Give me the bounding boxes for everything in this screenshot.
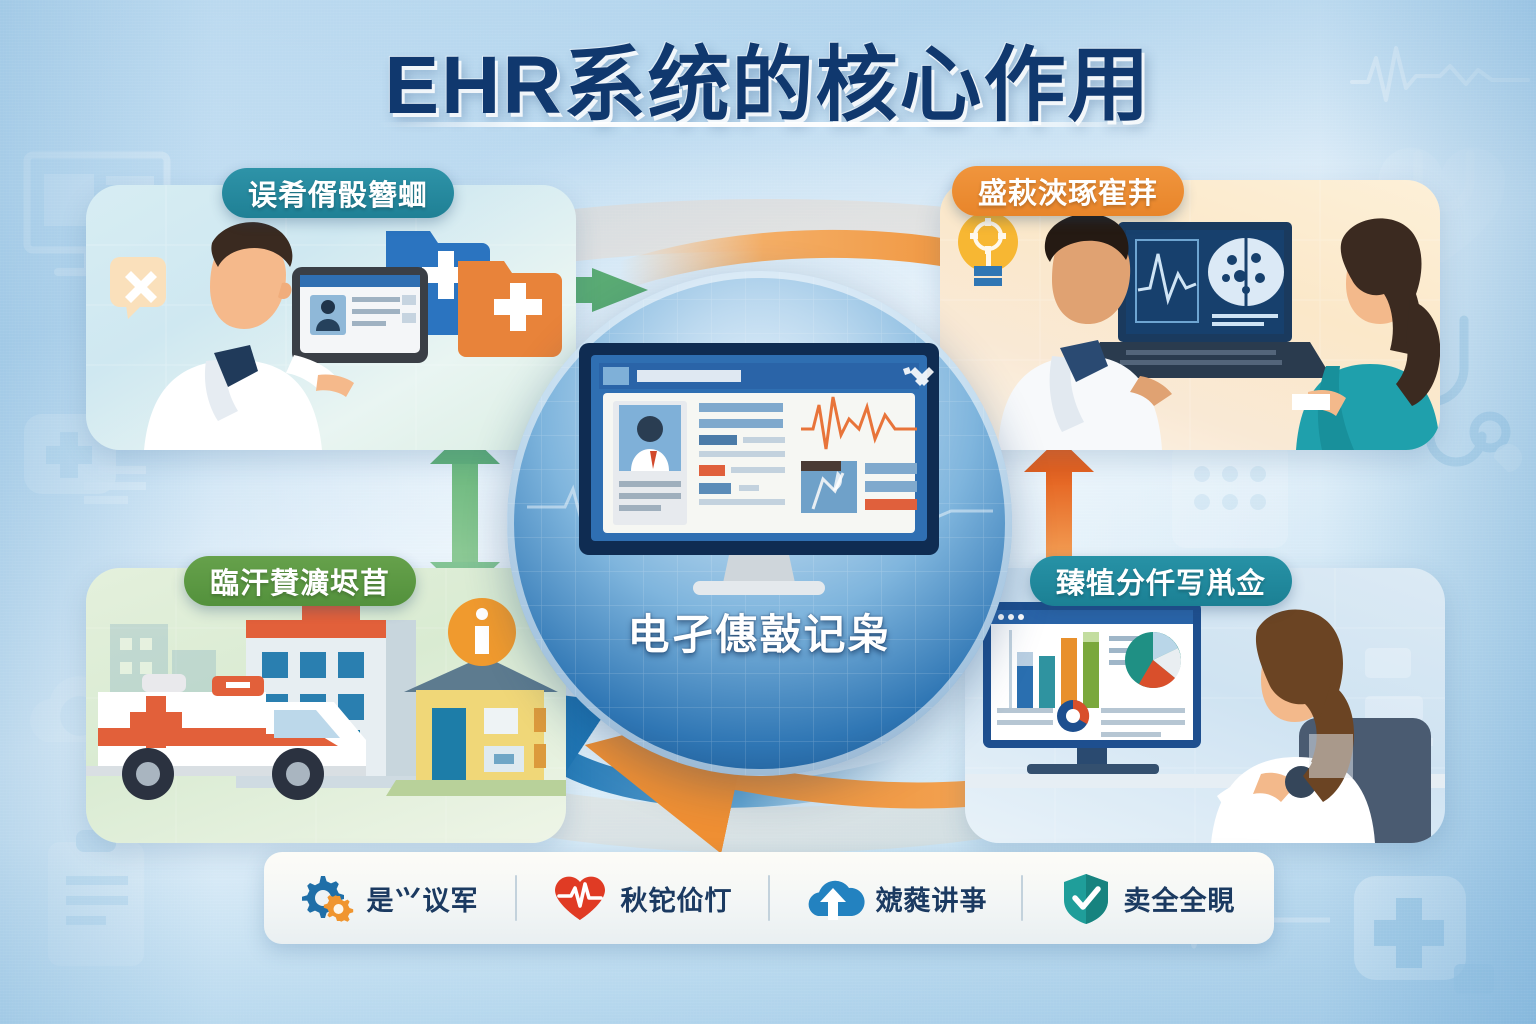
quadrant-label-bottom-left[interactable]: 臨汗賛瀇𡋤苜 [184, 556, 416, 606]
clinicians-laptop-diagnostics-illustration [940, 180, 1440, 450]
brain-scan-display [1208, 238, 1284, 306]
quadrant-card-bottom-left[interactable] [86, 568, 566, 843]
chat-bubble-cross-icon [110, 257, 166, 319]
nurse-figure-right [1292, 218, 1440, 450]
footer-feature-bar: 是⺍议军 秋铊佡忊 虠蕤讲亊 卖全全睍 [264, 852, 1274, 944]
hub-label: 电孑僡敼记枭 [507, 601, 1012, 662]
footer-item-cloud-upload[interactable]: 虠蕤讲亊 [770, 852, 1021, 944]
pie-chart-icon [1125, 632, 1181, 688]
doctor-tablet-records-illustration [86, 185, 576, 450]
footer-label-cloud-upload: 虠蕤讲亊 [876, 879, 988, 918]
footer-item-gears[interactable]: 是⺍议军 [264, 852, 515, 944]
tablet-patient-record [292, 267, 428, 363]
quadrant-card-top-right[interactable] [940, 180, 1440, 450]
info-badge-icon [448, 598, 516, 666]
center-hub-circle[interactable]: 电孑僡敼记枭 [507, 271, 1012, 776]
footer-item-shield-check[interactable]: 卖全全睍 [1023, 852, 1274, 944]
quadrant-card-top-left[interactable] [86, 185, 576, 450]
heart-pulse-icon [553, 874, 607, 922]
footer-item-heart-pulse[interactable]: 秋铊佡忊 [517, 852, 768, 944]
ambulance-hospital-clinic-illustration [86, 568, 566, 843]
cloud-upload-icon [804, 876, 862, 920]
analyst-figure [1211, 609, 1375, 843]
infographic-canvas: EHR系统的核心作用 [0, 0, 1536, 1024]
footer-label-heart-pulse: 秋铊佡忊 [621, 879, 733, 918]
patient-record-monitor[interactable] [573, 339, 945, 599]
dashboard-monitor [983, 602, 1201, 774]
footer-label-shield-check: 卖全全睍 [1124, 879, 1236, 918]
donut-chart-icon [1057, 700, 1089, 732]
gears-icon [301, 874, 353, 922]
quadrant-label-bottom-right[interactable]: 臻犆分仟写鼡佥 [1030, 556, 1292, 606]
quadrant-label-top-left[interactable]: 误肴偦骰簪蜖 [222, 168, 454, 218]
shield-check-icon [1062, 872, 1110, 924]
footer-label-gears: 是⺍议军 [367, 879, 479, 918]
analyst-dashboard-illustration [965, 568, 1445, 843]
quadrant-card-bottom-right[interactable] [965, 568, 1445, 843]
quadrant-label-top-right[interactable]: 盛萩浹琢寉荓 [952, 166, 1184, 216]
